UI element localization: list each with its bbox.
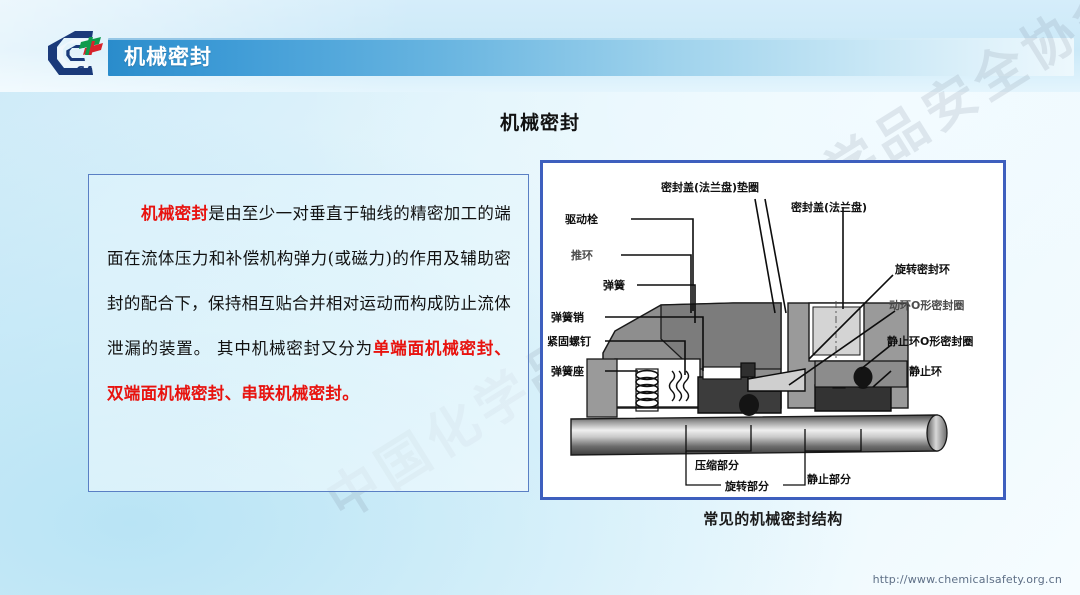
diagram-label-spring-pin: 弹簧销: [551, 310, 584, 324]
page-title: 机械密封: [0, 108, 1080, 135]
definition-panel: 机械密封是由至少一对垂直于轴线的精密加工的端面在流体压力和补偿机构弹力(或磁力)…: [88, 174, 529, 492]
diagram-label-set-screw: 紧固螺钉: [547, 334, 591, 348]
diagram-label-rotating-seal-ring: 旋转密封环: [894, 262, 950, 276]
diagram-label-rotating-oring: 动环O形密封圈: [889, 298, 964, 312]
svg-text:SA: SA: [76, 64, 94, 78]
term-highlight: 机械密封: [141, 204, 208, 223]
diagram-label-spring-seat: 弹簧座: [551, 364, 584, 378]
diagram-label-stationary-ring: 静止环: [909, 364, 942, 378]
diagram-caption: 常见的机械密封结构: [540, 508, 1006, 529]
diagram-label-stationary-part: 静止部分: [807, 472, 851, 486]
csa-logo-icon: SA: [45, 28, 107, 78]
mechanical-seal-illustration: 密封盖(法兰盘)垫圈 密封盖(法兰盘) 驱动栓 推环 弹簧 弹簧销 紧固螺钉 弹…: [543, 163, 1003, 497]
definition-text: 机械密封是由至少一对垂直于轴线的精密加工的端面在流体压力和补偿机构弹力(或磁力)…: [107, 191, 511, 416]
diagram-label-compression-part: 压缩部分: [695, 458, 739, 472]
diagram-label-drive-pin: 驱动栓: [565, 212, 598, 226]
definition-body-normal: 是由至少一对垂直于轴线的精密加工的端面在流体压力和补偿机构弹力(或磁力)的作用及…: [107, 204, 511, 358]
footer-url: http://www.chemicalsafety.org.cn: [873, 573, 1062, 586]
slide-canvas: 机械密封 SA 机械密封 中国化学品安全协会 中国化学品安全协会 机械密封是由至…: [0, 0, 1080, 595]
diagram-label-rotating-part: 旋转部分: [724, 479, 769, 493]
diagram-label-spring: 弹簧: [603, 278, 625, 292]
diagram-label-push-ring: 推环: [571, 248, 593, 262]
header-title-bar-highlight: [108, 38, 1074, 40]
csa-logo: SA: [45, 28, 107, 78]
header-title-bar: [108, 38, 1074, 76]
diagram-label-stationary-oring: 静止环O形密封圈: [887, 334, 973, 348]
diagram-label-top-gasket: 密封盖(法兰盘)垫圈: [661, 180, 759, 194]
header-title: 机械密封: [124, 40, 212, 74]
mechanical-seal-diagram: 密封盖(法兰盘)垫圈 密封盖(法兰盘) 驱动栓 推环 弹簧 弹簧销 紧固螺钉 弹…: [540, 160, 1006, 500]
diagram-label-top-cover: 密封盖(法兰盘): [791, 200, 867, 214]
